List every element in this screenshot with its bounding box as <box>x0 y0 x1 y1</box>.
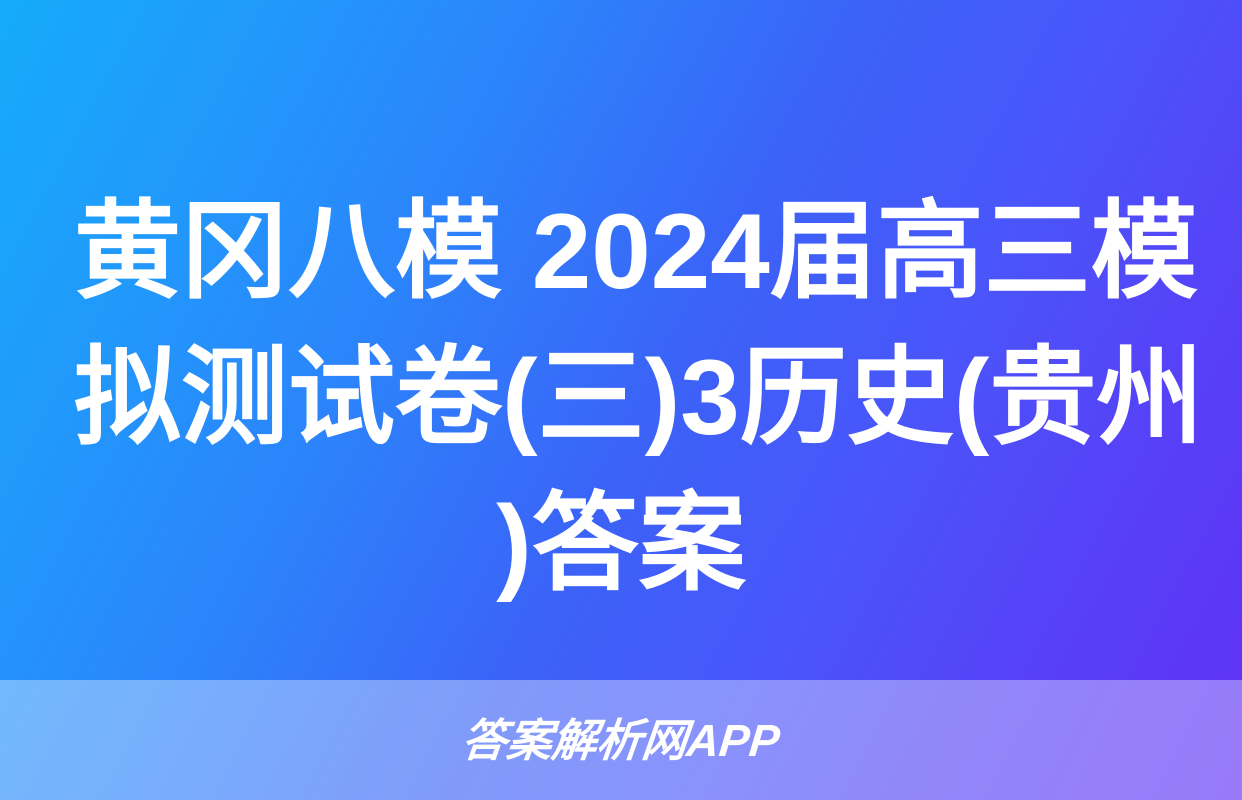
page-title: 黄冈八模 2024届高三模 拟测试卷(三)3历史(贵州 )答案 <box>0 178 1242 616</box>
title-line-3: )答案 <box>74 470 1168 616</box>
promo-card: 黄冈八模 2024届高三模 拟测试卷(三)3历史(贵州 )答案 答案解析网APP <box>0 0 1242 800</box>
watermark-label: 答案解析网APP <box>460 718 782 763</box>
footer-watermark-band: 答案解析网APP <box>0 680 1242 800</box>
title-line-2: 拟测试卷(三)3历史(贵州 <box>74 324 1168 470</box>
title-line-1: 黄冈八模 2024届高三模 <box>74 178 1168 324</box>
